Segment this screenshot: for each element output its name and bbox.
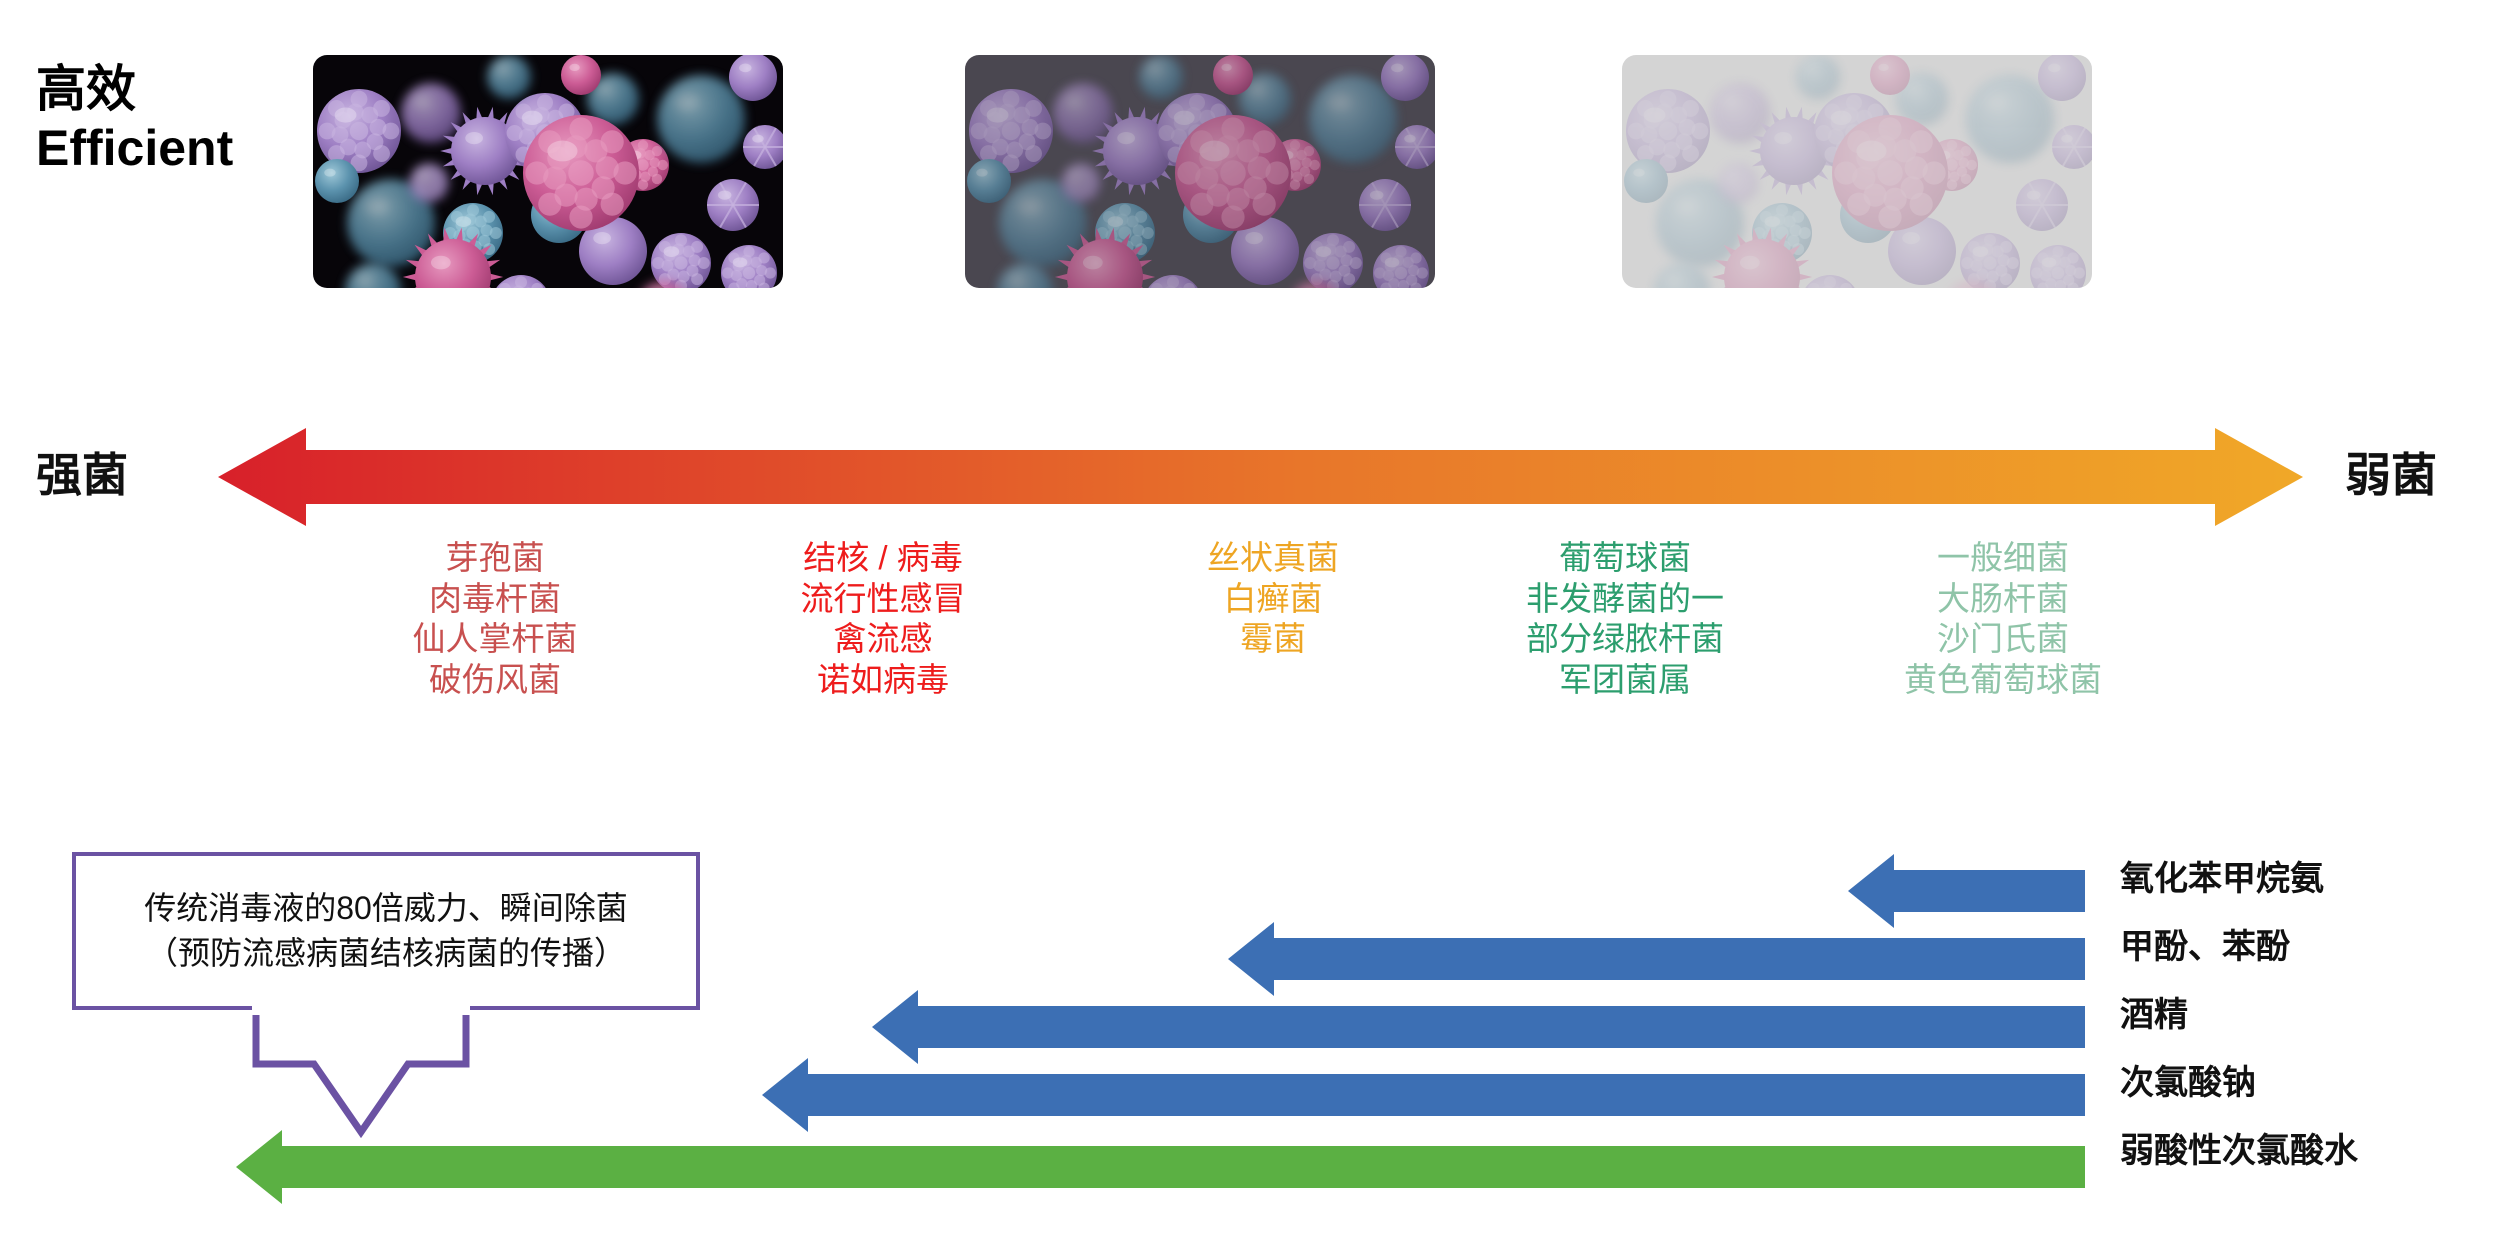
germ-name: 破伤风菌: [330, 660, 660, 701]
disinfectant-range-arrow-5: [236, 1128, 2085, 1206]
germ-name: 芽孢菌: [330, 538, 660, 579]
germ-name: 肉毒杆菌: [330, 579, 660, 620]
germ-name: 白癣菌: [1108, 579, 1438, 620]
disinfectant-range-arrow-4: [762, 1056, 2085, 1134]
efficient-heading-cn: 高效: [36, 60, 233, 119]
germ-name: 大肠杆菌: [1838, 579, 2168, 620]
disinfectant-range-arrow-3: [872, 988, 2085, 1066]
spectrum-left-label: 强菌: [36, 452, 128, 498]
callout-line-1: 传统消毒液的80倍威力、瞬间除菌: [144, 886, 628, 931]
germ-name: 仙人掌杆菌: [330, 619, 660, 660]
germ-name: 诺如病毒: [718, 660, 1048, 701]
germ-column-1: 芽孢菌肉毒杆菌仙人掌杆菌破伤风菌: [330, 538, 660, 700]
disinfectant-label: 弱酸性次氯酸水: [2120, 1134, 2358, 1168]
infographic-root: 高效 Efficient 强菌 弱菌 芽孢菌肉毒杆菌仙人掌杆菌破伤风菌结核 / …: [0, 0, 2501, 1242]
germ-name: 流行性感冒: [718, 579, 1048, 620]
germ-name: 部分绿脓杆菌: [1460, 619, 1790, 660]
spectrum-right-label: 弱菌: [2345, 452, 2437, 498]
disinfectant-label: 氧化苯甲烷氨: [2120, 862, 2324, 896]
spectrum-gradient-arrow: [218, 428, 2303, 526]
efficient-heading: 高效 Efficient: [36, 60, 233, 178]
microbe-panel-dark: [313, 55, 783, 288]
germ-name: 沙门氏菌: [1838, 619, 2168, 660]
germ-name: 一般细菌: [1838, 538, 2168, 579]
germ-name: 禽流感: [718, 619, 1048, 660]
disinfectant-range-arrow-2: [1228, 920, 2085, 998]
disinfectant-label: 酒精: [2120, 998, 2188, 1032]
germ-name: 黄色葡萄球菌: [1838, 660, 2168, 701]
germ-name: 非发酵菌的一: [1460, 579, 1790, 620]
germ-column-3: 丝状真菌白癣菌霉菌: [1108, 538, 1438, 660]
disinfectant-label: 次氯酸钠: [2120, 1066, 2256, 1100]
callout-box: 传统消毒液的80倍威力、瞬间除菌 （预防流感病菌结核病菌的传播）: [72, 852, 700, 1010]
germ-name: 丝状真菌: [1108, 538, 1438, 579]
callout-pointer-arrow: [252, 1006, 470, 1138]
germ-name: 军团菌属: [1460, 660, 1790, 701]
germ-name: 结核 / 病毒: [718, 538, 1048, 579]
germ-name: 葡萄球菌: [1460, 538, 1790, 579]
disinfectant-range-arrow-1: [1848, 852, 2085, 930]
microbe-panel-light: [1622, 55, 2092, 288]
germ-name: 霉菌: [1108, 619, 1438, 660]
germ-column-4: 葡萄球菌非发酵菌的一部分绿脓杆菌军团菌属: [1460, 538, 1790, 700]
efficient-heading-en: Efficient: [36, 119, 233, 178]
germ-column-5: 一般细菌大肠杆菌沙门氏菌黄色葡萄球菌: [1838, 538, 2168, 700]
microbe-panel-gray: [965, 55, 1435, 288]
disinfectant-label: 甲酚、苯酚: [2120, 930, 2290, 964]
germ-column-2: 结核 / 病毒流行性感冒禽流感诺如病毒: [718, 538, 1048, 700]
callout-line-2: （预防流感病菌结核病菌的传播）: [146, 931, 626, 976]
